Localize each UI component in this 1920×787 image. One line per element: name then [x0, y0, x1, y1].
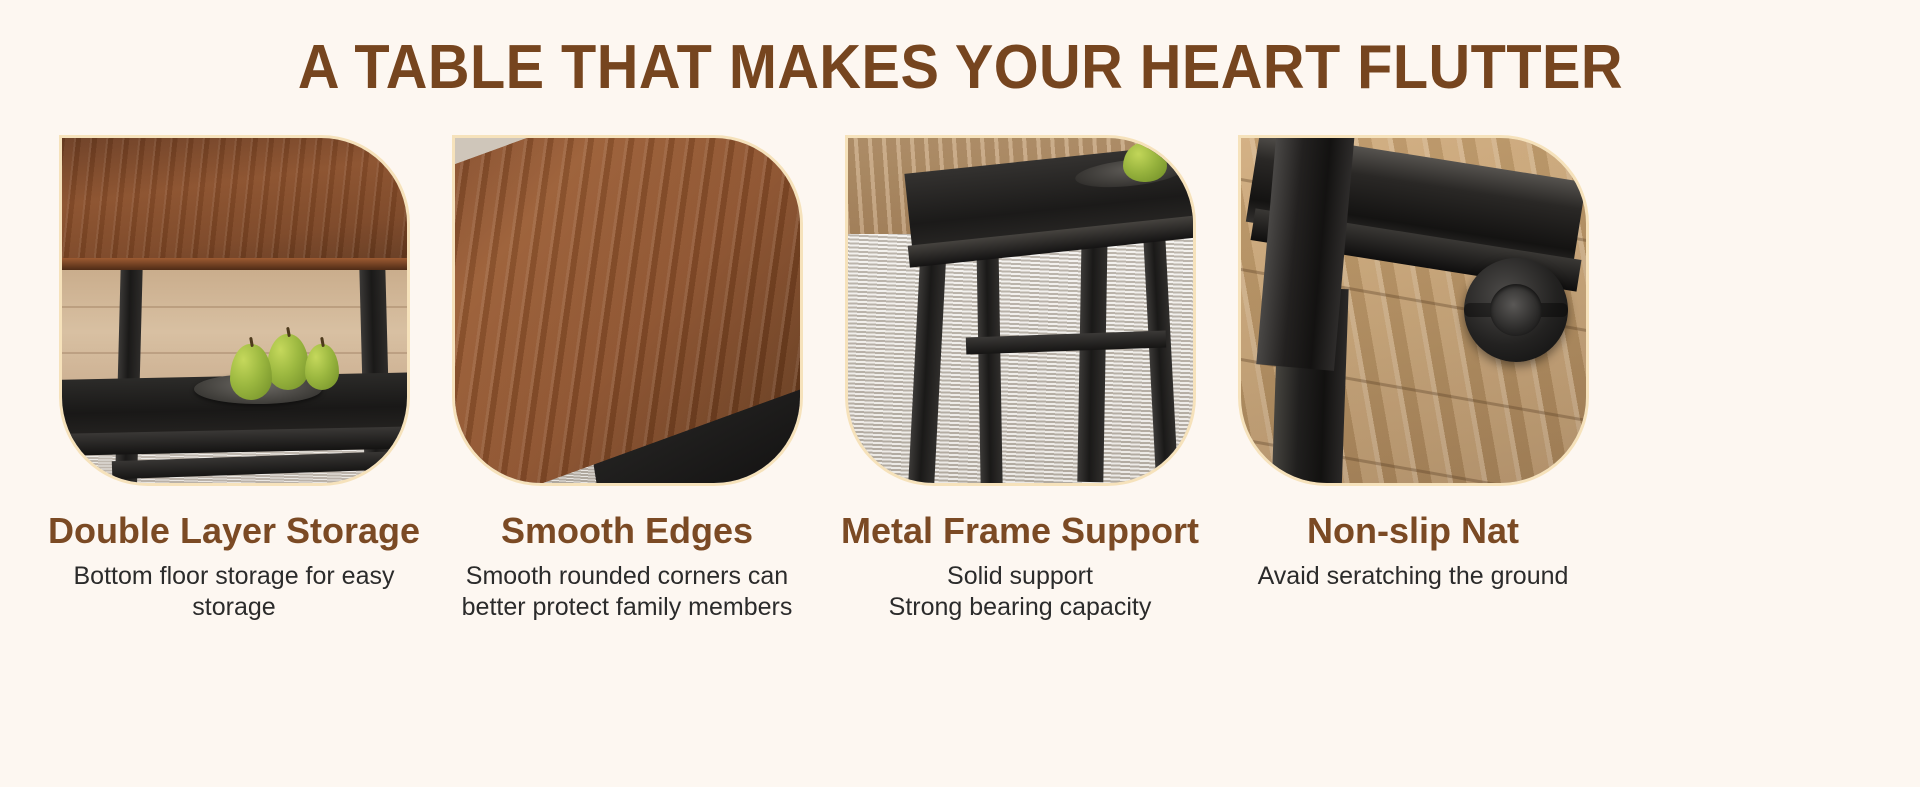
- card-heading: Double Layer Storage: [48, 510, 420, 552]
- card-body-line: Avaid seratching the ground: [1258, 561, 1569, 592]
- pear-fruit: [305, 344, 339, 390]
- pear-fruit: [267, 334, 309, 390]
- wall-line: [62, 306, 407, 308]
- card-body-line: Strong bearing capacity: [889, 592, 1152, 623]
- feature-card-double-layer-storage: Double Layer Storage Bottom floor storag…: [44, 138, 424, 623]
- photo-frame: [848, 138, 1193, 483]
- table-top-edge: [62, 258, 407, 270]
- product-feature-banner: A TABLE THAT MAKES YOUR HEART FLUTTER: [0, 0, 1920, 787]
- card-heading: Smooth Edges: [501, 510, 753, 552]
- feature-card-smooth-edges: Smooth Edges Smooth rounded corners can …: [437, 138, 817, 623]
- card-body-line: better protect family members: [462, 592, 793, 623]
- pear-fruit: [230, 344, 272, 400]
- feature-photo-double-layer-storage: [62, 138, 407, 483]
- card-body: Smooth rounded corners can better protec…: [462, 561, 793, 623]
- wall-line: [62, 352, 407, 354]
- table-top-surface: [62, 138, 407, 266]
- card-body-line: Bottom floor storage for easy: [74, 561, 395, 592]
- card-body-line: Smooth rounded corners can: [462, 561, 793, 592]
- feature-card-metal-frame-support: Metal Frame Support Solid support Strong…: [830, 138, 1210, 623]
- non-slip-foot: [1464, 258, 1568, 362]
- photo-frame: [1241, 138, 1586, 483]
- feature-photo-non-slip-nat: [1241, 138, 1586, 483]
- page-title: A TABLE THAT MAKES YOUR HEART FLUTTER: [297, 34, 1622, 102]
- foot-ridge: [1464, 303, 1568, 317]
- feature-card-row: Double Layer Storage Bottom floor storag…: [0, 138, 1920, 623]
- photo-frame: [455, 138, 800, 483]
- card-heading: Non-slip Nat: [1307, 510, 1519, 552]
- feature-card-non-slip-nat: Non-slip Nat Avaid seratching the ground: [1223, 138, 1603, 623]
- card-body-line: storage: [74, 592, 395, 623]
- card-body-line: Solid support: [889, 561, 1152, 592]
- pear-fruit: [1123, 142, 1167, 182]
- photo-frame: [62, 138, 407, 483]
- feature-photo-metal-frame-support: [848, 138, 1193, 483]
- feature-photo-smooth-edges: [455, 138, 800, 483]
- banner-title-wrap: A TABLE THAT MAKES YOUR HEART FLUTTER: [0, 34, 1920, 102]
- card-body: Bottom floor storage for easy storage: [74, 561, 395, 623]
- card-body: Avaid seratching the ground: [1258, 561, 1569, 592]
- card-heading: Metal Frame Support: [841, 510, 1199, 552]
- card-body: Solid support Strong bearing capacity: [889, 561, 1152, 623]
